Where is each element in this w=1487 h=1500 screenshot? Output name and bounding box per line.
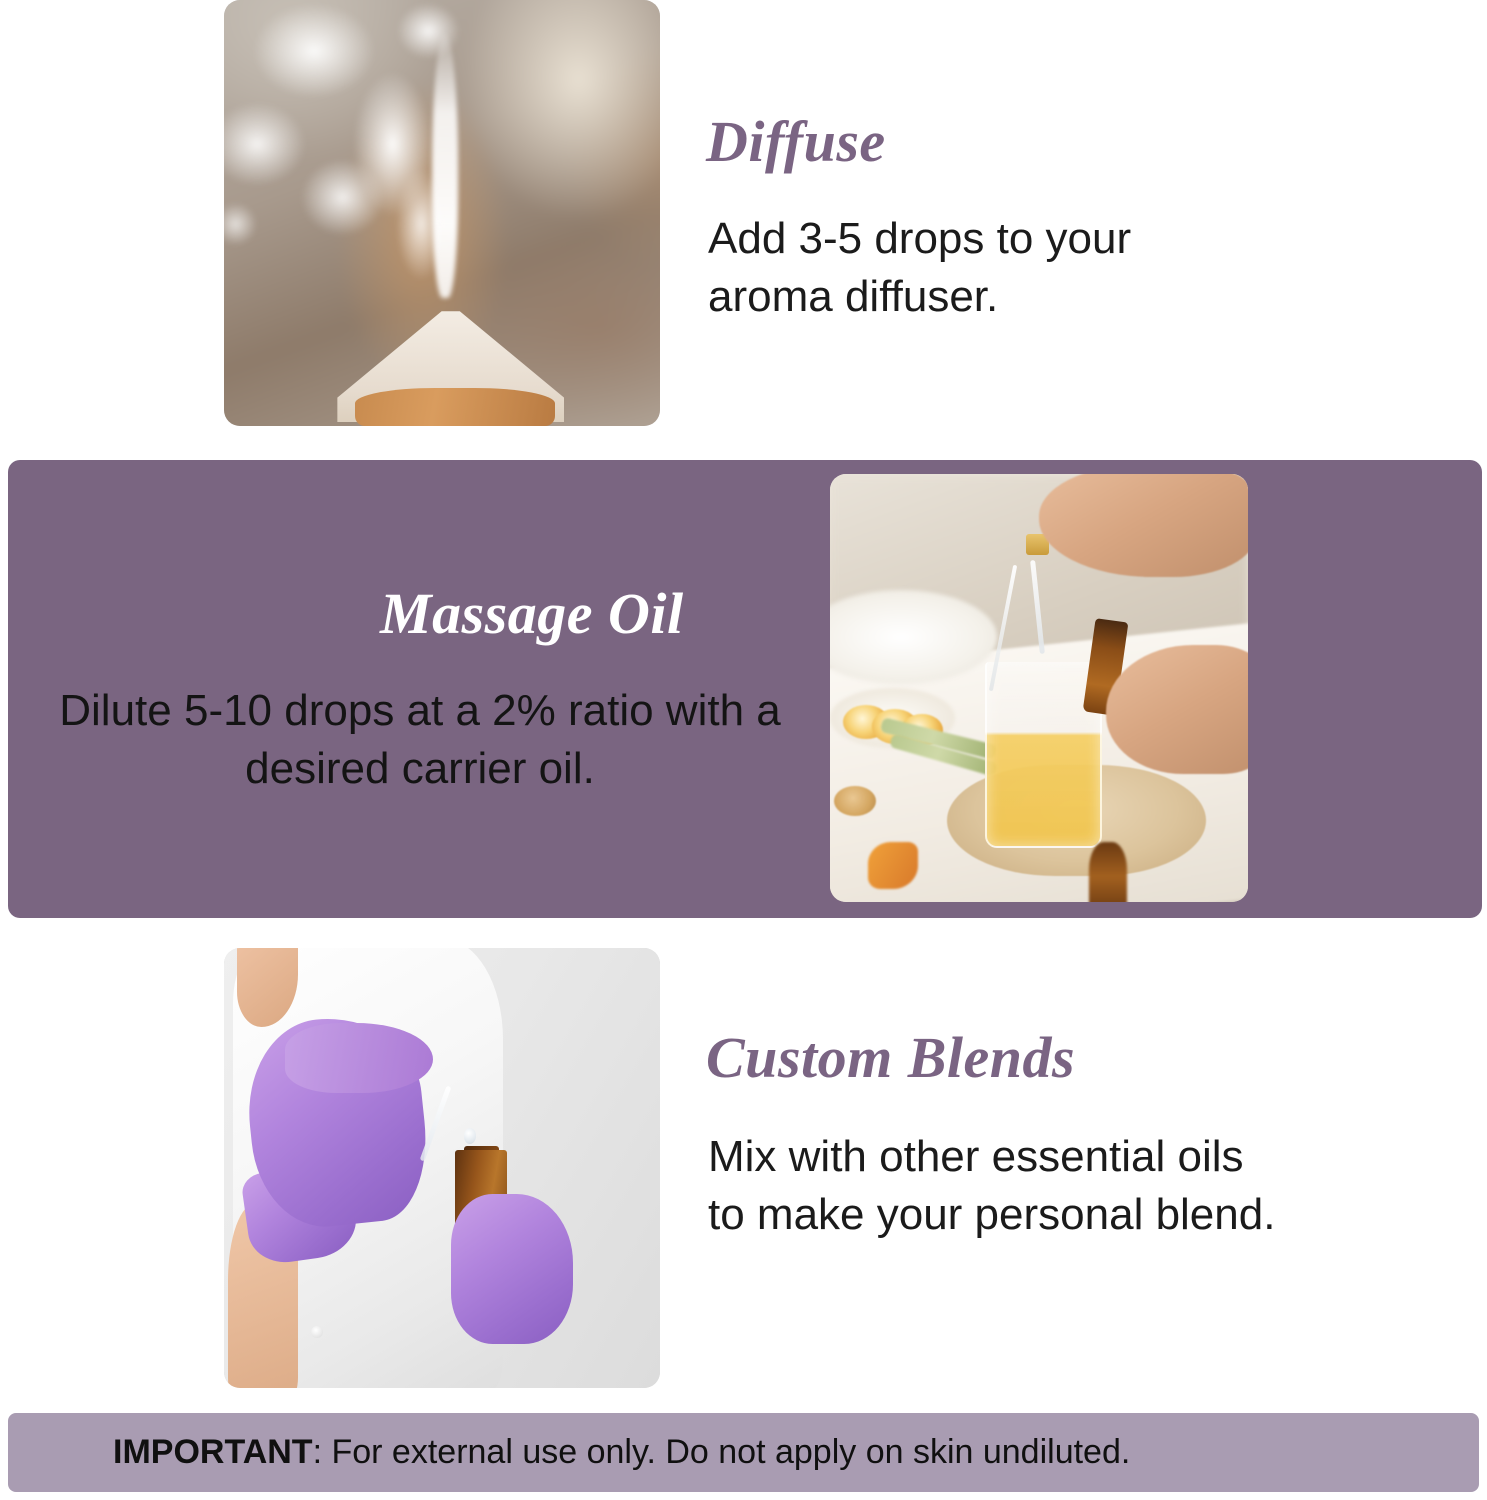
diffuser-wood-base — [355, 388, 556, 426]
important-notice-bar: IMPORTANT: For external use only. Do not… — [8, 1413, 1479, 1492]
massage-oil-scene — [830, 474, 1248, 902]
important-label: IMPORTANT — [113, 1433, 313, 1471]
section-body-diffuse: Add 3-5 drops to your aroma diffuser. — [708, 210, 1268, 326]
section-heading-custom-blends: Custom Blends — [706, 1024, 1075, 1091]
custom-blends-photo — [224, 948, 660, 1388]
orange-peel — [868, 842, 918, 889]
purple-glove-right-hand — [451, 1194, 573, 1344]
custom-blends-scene — [224, 948, 660, 1388]
mist-cloud — [224, 0, 564, 324]
important-body: For external use only. Do not apply on s… — [331, 1433, 1130, 1471]
section-heading-massage-oil: Massage Oil — [380, 580, 684, 647]
section-body-massage-oil: Dilute 5-10 drops at a 2% ratio with a d… — [40, 682, 800, 798]
massage-oil-photo — [830, 474, 1248, 902]
section-body-custom-blends: Mix with other essential oils to make yo… — [708, 1128, 1288, 1244]
glass-beaker-with-oil — [985, 662, 1102, 848]
amber-bottle-foreground — [1089, 842, 1127, 902]
diffuser-photo — [224, 0, 660, 426]
section-heading-diffuse: Diffuse — [706, 108, 886, 175]
glove-fingers — [285, 1023, 433, 1093]
diffuser-scene — [224, 0, 660, 426]
important-separator: : — [313, 1433, 332, 1471]
important-notice-text: IMPORTANT: For external use only. Do not… — [113, 1433, 1130, 1472]
